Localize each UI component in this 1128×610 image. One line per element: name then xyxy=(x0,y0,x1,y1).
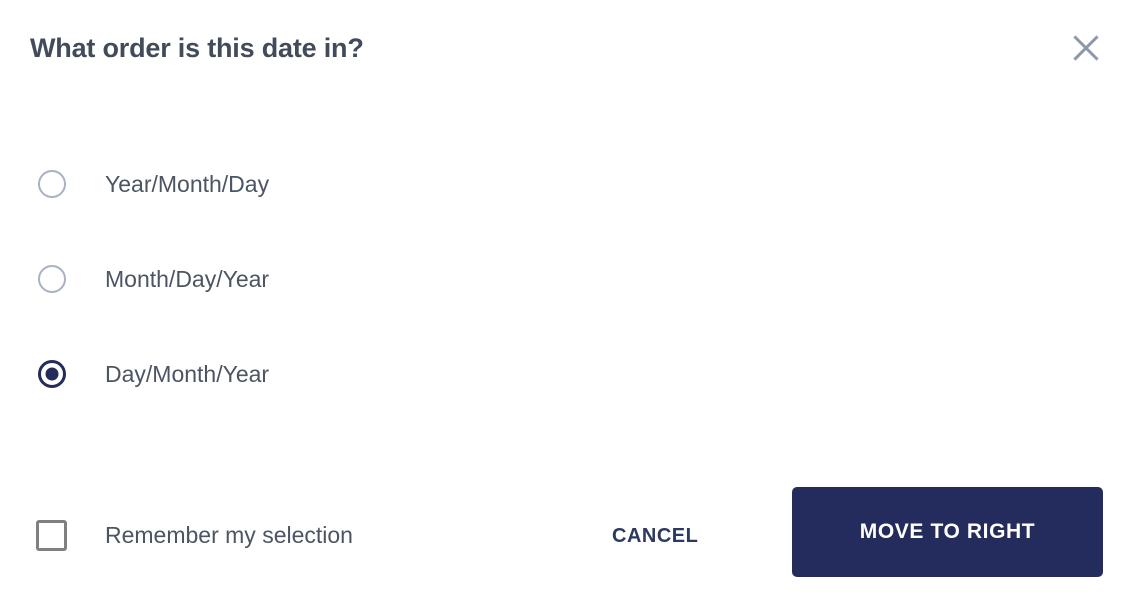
radio-option-month-day-year[interactable]: Month/Day/Year xyxy=(0,231,1128,326)
date-order-radio-group: Year/Month/Day Month/Day/Year Day/Month/… xyxy=(0,136,1128,421)
cancel-button[interactable]: CANCEL xyxy=(608,520,702,552)
radio-option-label: Day/Month/Year xyxy=(105,359,269,389)
radio-option-day-month-year[interactable]: Day/Month/Year xyxy=(0,326,1128,421)
move-to-right-button[interactable]: MOVE TO RIGHT xyxy=(792,487,1103,577)
remember-selection-label: Remember my selection xyxy=(105,520,353,551)
dialog-header: What order is this date in? xyxy=(0,0,1128,100)
radio-icon-selected[interactable] xyxy=(38,360,66,388)
radio-option-label: Month/Day/Year xyxy=(105,264,269,294)
dialog-footer: Remember my selection CANCEL MOVE TO RIG… xyxy=(0,470,1128,595)
page-title: What order is this date in? xyxy=(30,30,364,66)
radio-option-label: Year/Month/Day xyxy=(105,169,269,199)
date-order-dialog: What order is this date in? Year/Month/D… xyxy=(0,0,1128,610)
checkbox-icon-unchecked[interactable] xyxy=(36,520,67,551)
radio-option-year-month-day[interactable]: Year/Month/Day xyxy=(0,136,1128,231)
radio-icon-unselected[interactable] xyxy=(38,170,66,198)
radio-icon-unselected[interactable] xyxy=(38,265,66,293)
close-icon xyxy=(1073,35,1099,61)
close-button[interactable] xyxy=(1063,25,1109,71)
